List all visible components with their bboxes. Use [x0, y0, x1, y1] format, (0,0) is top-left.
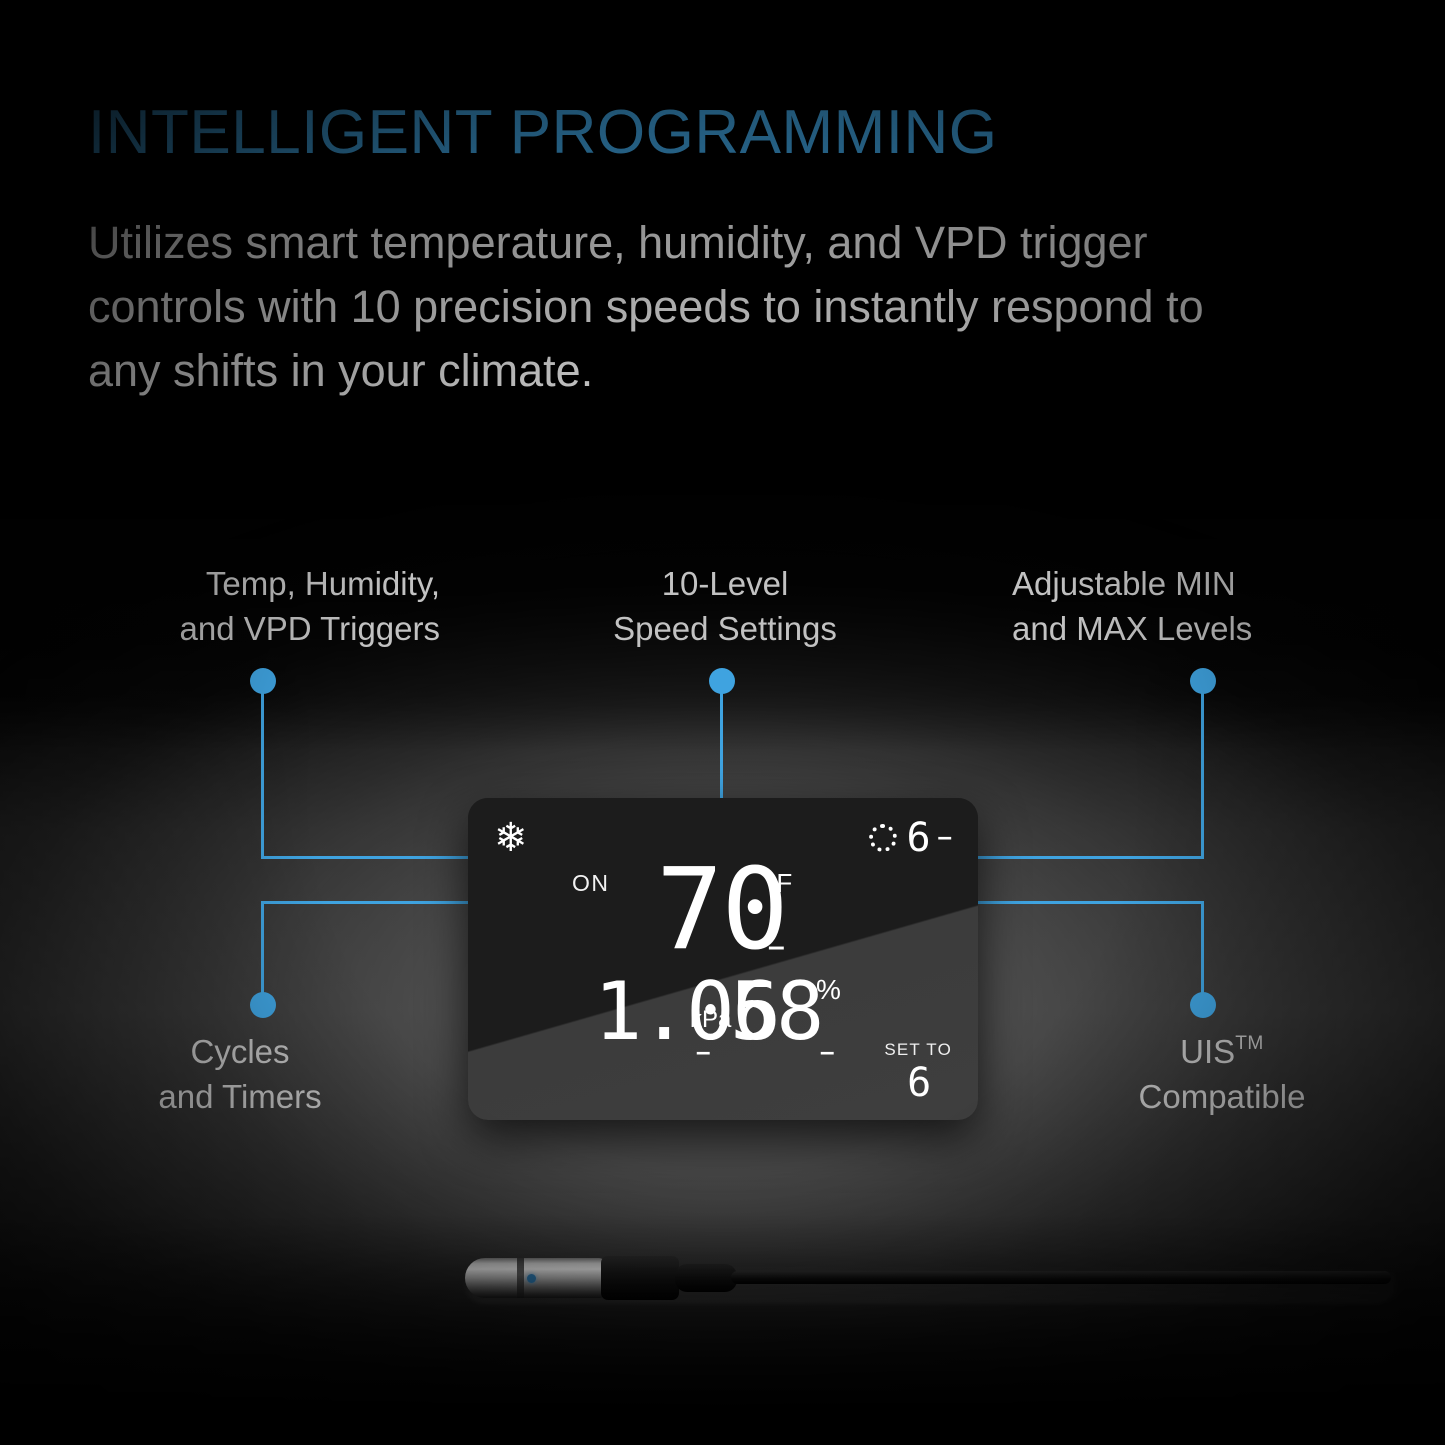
background-bottom-fade — [0, 1214, 1445, 1445]
infographic-canvas: INTELLIGENT PROGRAMMING Utilizes smart t… — [0, 0, 1445, 1445]
